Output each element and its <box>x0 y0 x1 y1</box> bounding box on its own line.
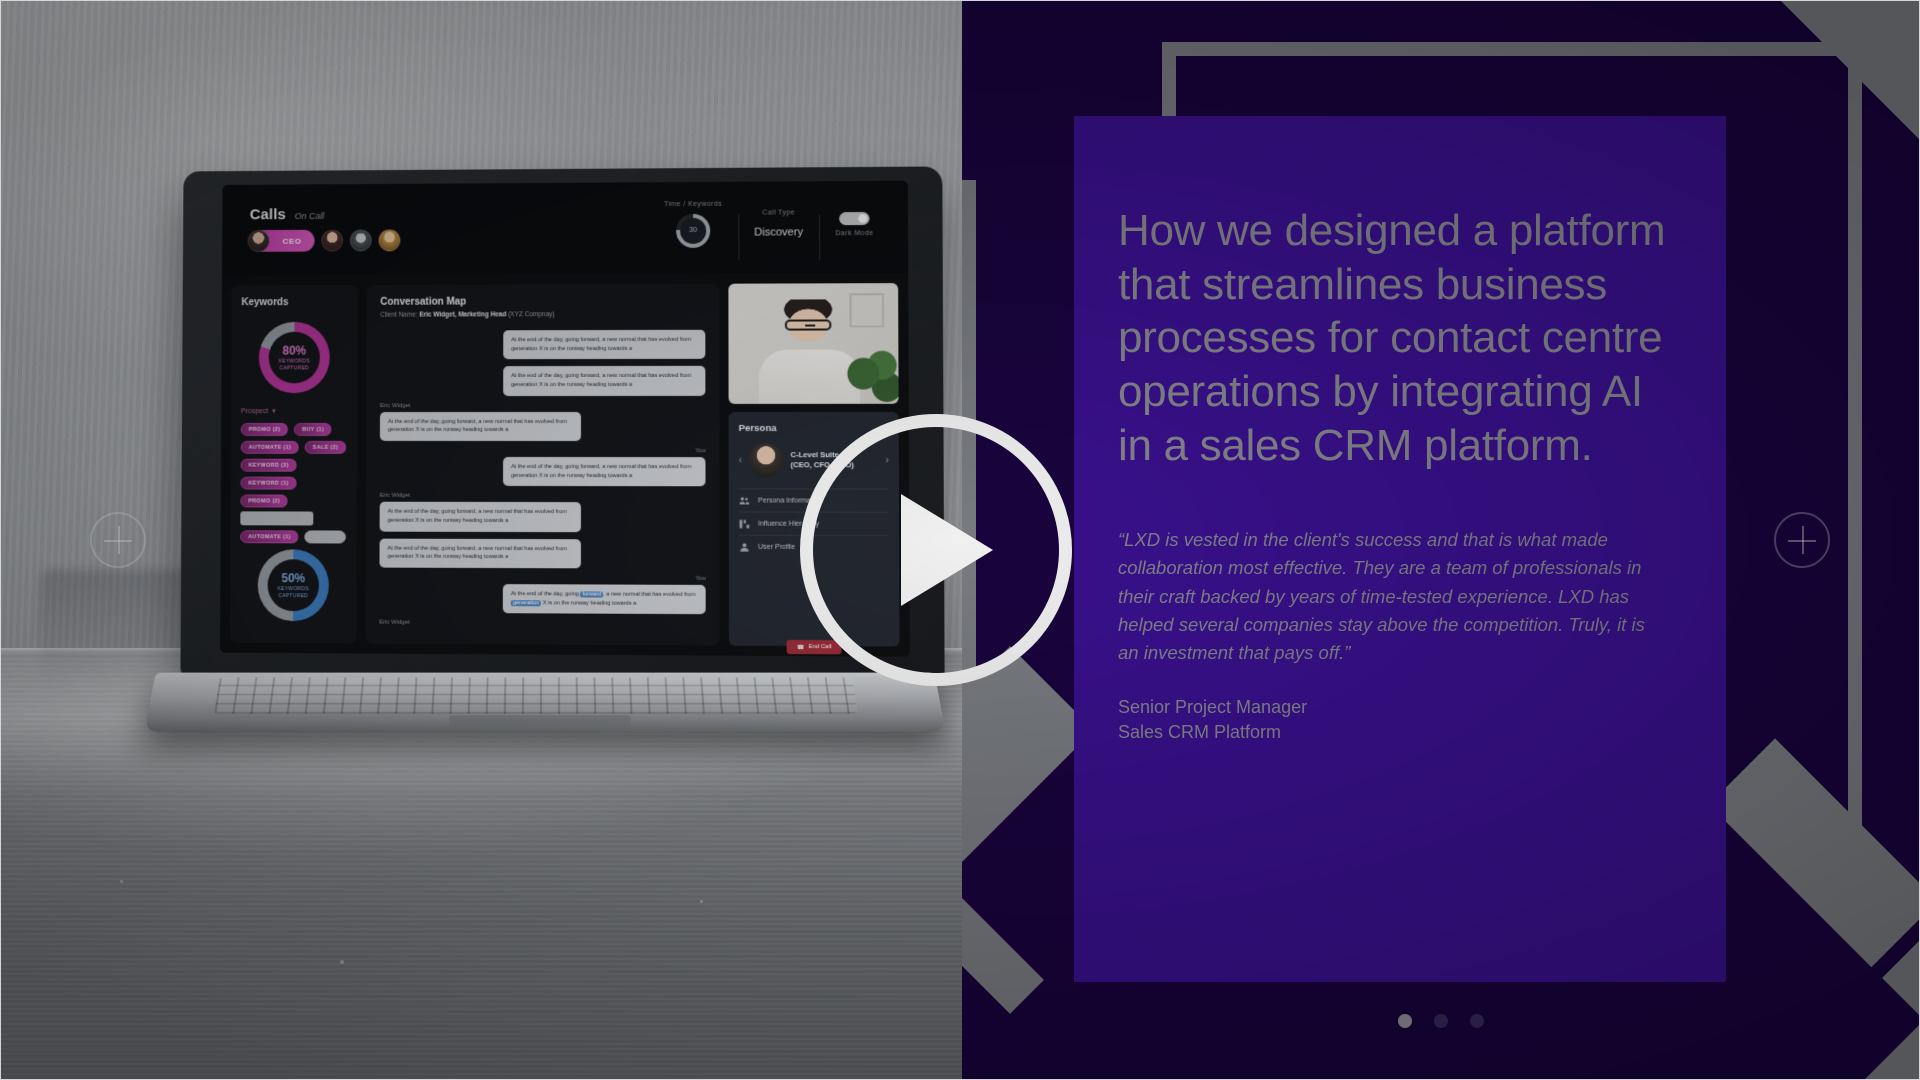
keyword-search-input[interactable] <box>240 511 313 525</box>
on-call-status: On Call <box>295 211 325 221</box>
chat-bubble: At the end of the day, going forward, a … <box>503 584 706 614</box>
prospect-label: Prospect <box>241 408 268 415</box>
keyword-tag[interactable]: AUTOMATE (1) <box>241 441 299 454</box>
chat-bubble: At the end of the day, going forward, a … <box>503 457 706 487</box>
time-keywords-metric: Time / Keywords 30 <box>648 200 738 247</box>
header-metrics: Time / Keywords 30 Call Type Discovery <box>648 181 908 252</box>
wall-frame-decor <box>850 293 885 327</box>
client-name-line: Client Name: Eric Widget, Marketing Head… <box>380 311 705 319</box>
participant-avatars[interactable]: CEO <box>250 229 401 251</box>
chat-speaker: You <box>503 575 706 582</box>
keyword-tag[interactable]: AUTOMATE (1) <box>240 530 298 543</box>
donut-bottom-percent: 50% <box>281 571 305 585</box>
laptop-keyboard <box>214 677 858 713</box>
carousel-dot-2[interactable] <box>1434 1014 1448 1028</box>
prospect-filter[interactable]: Prospect ▾ <box>241 407 347 415</box>
donut-top-percent: 80% <box>282 344 306 358</box>
call-type-value: Discovery <box>754 226 803 238</box>
donut-bottom-caption: KEYWORDS CAPTURED <box>268 586 319 599</box>
chat-bubble: At the end of the day, going forward, a … <box>380 502 581 532</box>
end-call-button[interactable]: ☎ End Call <box>787 640 842 654</box>
keyword-tag[interactable]: KEYWORD (2) <box>241 459 297 472</box>
chat-speaker: Eric Widget <box>380 493 581 499</box>
ceo-pill[interactable]: CEO <box>250 230 315 252</box>
call-type-metric: Call Type Discovery <box>738 209 819 238</box>
chat-message: At the end of the day, going forward, a … <box>503 366 705 396</box>
chat-thread[interactable]: At the end of the day, going forward, a … <box>379 330 705 631</box>
avatar[interactable] <box>350 230 372 252</box>
testimonial-quote: “LXD is vested in the client's success a… <box>1118 526 1668 667</box>
app-body: Keywords 80% KEYWORDS CAPTURED Prospect <box>220 273 910 657</box>
prev-slide-button[interactable] <box>90 512 146 568</box>
donut-top-caption: KEYWORDS CAPTURED <box>269 359 320 371</box>
persona-menu-label: User Profile <box>758 543 795 550</box>
chat-message: Eric Widget <box>379 620 581 630</box>
chat-bubble: At the end of the day, going forward, a … <box>503 366 705 396</box>
carousel-dot-1[interactable] <box>1398 1014 1412 1028</box>
carousel-dots <box>962 1014 1920 1028</box>
time-ring-gauge: 30 <box>676 213 710 247</box>
chat-message: At the end of the day, going forward, a … <box>379 538 581 568</box>
chat-message-highlighted: You At the end of the day, going forward… <box>503 575 706 614</box>
play-button[interactable] <box>800 414 1072 686</box>
chat-message: Eric Widget At the end of the day, going… <box>380 493 581 532</box>
chevron-down-icon: ▾ <box>272 407 275 415</box>
phone-hangup-icon: ☎ <box>797 643 805 650</box>
hierarchy-icon <box>739 518 750 529</box>
people-icon <box>739 495 750 506</box>
keyword-tag[interactable]: SALE (2) <box>305 441 346 454</box>
client-name: Eric Widget, Marketing Head <box>419 311 506 318</box>
app-header: Calls On Call CEO <box>222 181 908 276</box>
keyword-highlight: forward <box>580 591 603 597</box>
chat-bubble: At the end of the day, going forward, a … <box>503 330 705 360</box>
chevron-left-icon[interactable]: ‹ <box>739 455 742 466</box>
play-icon <box>901 494 993 606</box>
attribution-project: Sales CRM Platform <box>1118 720 1668 746</box>
plant-decor <box>846 349 899 403</box>
calls-title: Calls <box>250 206 286 223</box>
keywords-panel: Keywords 80% KEYWORDS CAPTURED Prospect <box>230 285 358 643</box>
chat-bubble: At the end of the day, going forward, a … <box>380 412 581 441</box>
keyword-tag[interactable]: PROMO (2) <box>241 423 288 436</box>
next-slide-button[interactable] <box>1774 512 1830 568</box>
dark-mode-control[interactable]: Dark Mode <box>819 209 890 236</box>
persona-avatar <box>749 443 783 477</box>
avatar[interactable] <box>379 229 401 251</box>
chat-message: Eric Widget At the end of the day, going… <box>380 403 581 441</box>
laptop-device: Calls On Call CEO <box>150 168 940 728</box>
client-company: (XYZ Compnay) <box>508 311 554 318</box>
avatar <box>248 230 270 252</box>
time-ring-value: 30 <box>680 217 706 243</box>
slide-headline: How we designed a platform that streamli… <box>1118 204 1668 472</box>
calls-block: Calls On Call CEO <box>222 184 400 252</box>
keywords-captured-donut-top: 80% KEYWORDS CAPTURED <box>259 322 330 393</box>
desk-speck <box>700 900 703 903</box>
conversation-map-title: Conversation Map <box>380 296 705 308</box>
quote-attribution: Senior Project Manager Sales CRM Platfor… <box>1118 695 1668 746</box>
chat-message: At the end of the day, going forward, a … <box>503 330 705 360</box>
slide-content-card: How we designed a platform that streamli… <box>1074 116 1726 982</box>
keywords-captured-donut-bottom: 50% KEYWORDS CAPTURED <box>258 549 329 621</box>
chat-message: You At the end of the day, going forward… <box>503 448 706 487</box>
call-type-label: Call Type <box>754 209 803 216</box>
chat-speaker: Eric Widget <box>380 403 581 409</box>
dark-mode-toggle[interactable] <box>839 211 869 224</box>
desk-speck <box>120 880 123 883</box>
user-icon <box>739 541 750 552</box>
video-call-thumbnail[interactable] <box>728 283 898 404</box>
keyword-tag[interactable]: BUY (1) <box>294 423 332 436</box>
time-keywords-label: Time / Keywords <box>664 200 722 207</box>
avatar[interactable] <box>321 230 343 252</box>
keyword-tag-list: PROMO (2) BUY (1) AUTOMATE (1) SALE (2) … <box>240 423 347 544</box>
attribution-role: Senior Project Manager <box>1118 695 1668 721</box>
keyword-highlight: generation <box>511 600 541 606</box>
keywords-title: Keywords <box>241 297 347 308</box>
desk-speck <box>340 960 344 964</box>
keyword-tag[interactable]: KEYWORD (1) <box>241 477 297 490</box>
keyword-tag-placeholder[interactable] <box>304 530 346 543</box>
carousel-dot-3[interactable] <box>1470 1014 1484 1028</box>
dark-mode-label: Dark Mode <box>835 230 873 237</box>
end-call-label: End Call <box>808 644 831 650</box>
laptop-base <box>144 673 946 733</box>
ceo-pill-label: CEO <box>283 236 302 245</box>
client-label: Client Name: <box>380 312 417 319</box>
chat-speaker: You <box>503 448 706 454</box>
video-player-frame: Calls On Call CEO <box>0 0 1920 1080</box>
keyword-tag[interactable]: PROMO (2) <box>240 494 288 507</box>
conversation-map-panel: Conversation Map Client Name: Eric Widge… <box>365 284 720 646</box>
chat-bubble: At the end of the day, going forward, a … <box>379 538 581 568</box>
laptop-trackpad <box>449 715 631 727</box>
glasses-icon <box>785 319 832 330</box>
chat-speaker: Eric Widget <box>379 620 581 627</box>
